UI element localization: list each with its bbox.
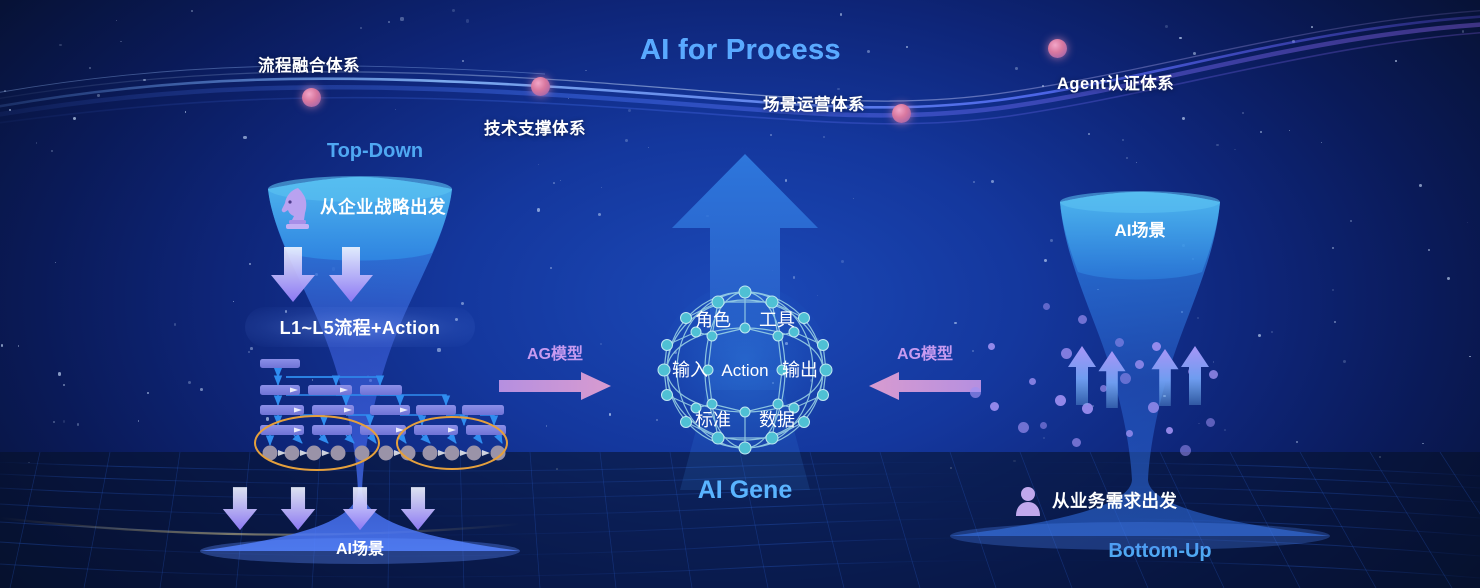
particle-dot (970, 387, 981, 398)
arrow-right-icon (495, 370, 615, 402)
bottom-up-funnel: AI场景 从业务需求出发 (930, 190, 1350, 550)
particle-dot (1209, 370, 1218, 379)
particle-dot (1072, 438, 1081, 447)
down-arrow-icon (400, 485, 436, 533)
particle-dot (1166, 427, 1173, 434)
particle-dot (990, 402, 999, 411)
wave-node-dot-1 (531, 77, 550, 96)
process-level-pill: L1~L5流程+Action (245, 307, 475, 347)
particle-dot (1018, 422, 1029, 433)
top-label-3: Agent认证体系 (1057, 70, 1174, 94)
top-down-heading: 从企业战略出发 (320, 194, 446, 219)
wave-node-dot-2 (892, 104, 911, 123)
particle-dot (1115, 338, 1124, 347)
process-level-text: L1~L5流程+Action (245, 307, 475, 347)
particle-dot (1043, 303, 1050, 310)
sphere-label-0: 角色 (695, 310, 731, 330)
particle-dot (1040, 422, 1047, 429)
down-arrow-icon (328, 247, 374, 303)
bottom-up-heading: 从业务需求出发 (1052, 488, 1177, 513)
particle-dot (1206, 418, 1215, 427)
particle-dot (988, 343, 995, 350)
ag-model-label: AG模型 (495, 340, 615, 364)
sphere-label-3: Action (721, 361, 768, 380)
sphere-label-4: 输出 (782, 360, 818, 380)
up-arrow-icon (1097, 350, 1127, 408)
ai-gene-module: 角色工具输入Action输出标准数据 AI Gene (600, 140, 890, 520)
top-label-1: 技术支撑体系 (484, 115, 586, 139)
down-arrow-icon (270, 247, 316, 303)
up-arrow-icon (1150, 348, 1180, 406)
down-arrow-icon (280, 485, 316, 533)
process-flowchart (250, 355, 530, 475)
down-arrow-icon (222, 485, 258, 533)
wave-node-dot-0 (302, 88, 321, 107)
particle-dot (1180, 445, 1191, 456)
infographic-canvas: AI for Process 流程融合体系技术支撑体系场景运营体系Agent认证… (0, 0, 1480, 588)
top-down-caption: Top-Down (275, 140, 475, 163)
particle-dot (1055, 395, 1066, 406)
sphere-label-2: 输入 (672, 360, 708, 380)
up-arrow-icon (1180, 345, 1210, 405)
highlight-ellipse (255, 416, 379, 470)
up-arrow-icon (1067, 345, 1097, 405)
ag-model-connector-left: AG模型 (495, 340, 615, 407)
ai-gene-label: AI Gene (640, 476, 850, 505)
top-label-0: 流程融合体系 (258, 52, 360, 76)
user-icon (1015, 486, 1041, 516)
sphere-label-6: 数据 (759, 410, 795, 430)
particle-dot (1126, 430, 1133, 437)
chess-knight-icon (278, 185, 314, 231)
highlight-ellipse (397, 417, 507, 469)
particle-dot (1135, 360, 1144, 369)
particle-dot (1029, 378, 1036, 385)
particle-dot (1078, 315, 1087, 324)
down-arrow-icon (342, 485, 378, 533)
ai-gene-sphere: 角色工具输入Action输出标准数据 (600, 140, 890, 520)
left-ai-scene-label: AI场景 (260, 535, 460, 559)
sphere-label-1: 工具 (759, 310, 795, 330)
wave-node-dot-3 (1048, 39, 1067, 58)
top-label-2: 场景运营体系 (763, 91, 865, 115)
sphere-label-5: 标准 (695, 410, 731, 430)
